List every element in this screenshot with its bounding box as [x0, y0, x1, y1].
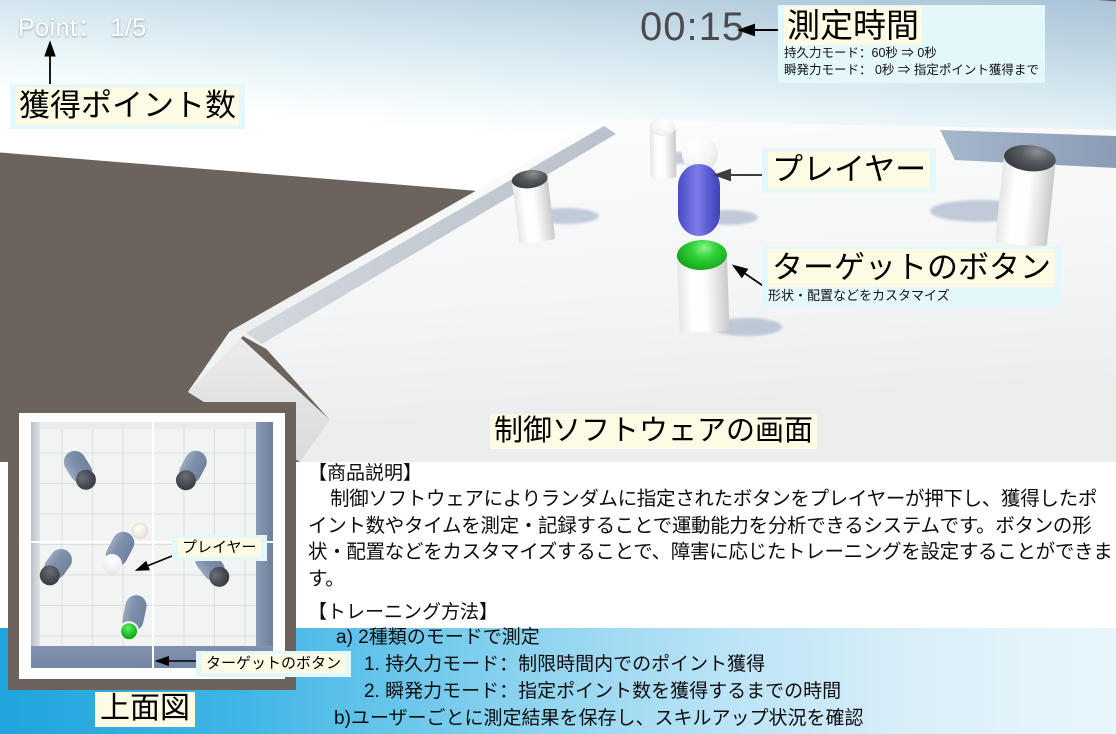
minimap-center-line-vertical — [152, 422, 154, 668]
training-item-a2: 2. 瞬発力モード：指定ポイント数を獲得するまでの時間 — [364, 679, 1116, 706]
callout-minimap-target: ターゲットのボタン — [196, 651, 351, 677]
callout-target-button-label: ターゲットのボタン — [768, 249, 1055, 287]
callout-measure-time-sub2: 瞬発力モード： 0秒 ⇒ 指定ポイント獲得まで — [784, 63, 1039, 79]
callout-measure-time: 測定時間 持久力モード：60秒 ⇒ 0秒 瞬発力モード： 0秒 ⇒ 指定ポイント… — [778, 5, 1045, 83]
button-cylinder-right[interactable] — [995, 143, 1057, 248]
callout-top-view: 上面図 — [95, 692, 195, 727]
callout-points: 獲得ポイント数 — [10, 84, 245, 129]
training-item-a: a) 2種類のモードで測定 — [336, 625, 1116, 652]
callout-software-screen-label: 制御ソフトウェアの画面 — [490, 414, 817, 449]
product-description-panel: 【商品説明】 制御ソフトウェアによりランダムに指定されたボタンをプレイヤーが押下… — [308, 464, 1116, 734]
callout-measure-time-sub1: 持久力モード：60秒 ⇒ 0秒 — [784, 46, 1039, 62]
minimap-player-marker — [132, 523, 148, 539]
hud-point-counter: Point： 1/5 — [18, 8, 147, 44]
training-item-b: b)ユーザーごとに測定結果を保存し、スキルアップ状況を確認 — [334, 706, 1116, 733]
player-body — [678, 164, 720, 236]
callout-points-label: 獲得ポイント数 — [16, 87, 239, 125]
callout-target-button: ターゲットのボタン 形状・配置などをカスタマイズ — [762, 246, 1061, 308]
callout-player: プレイヤー — [762, 148, 936, 193]
target-button-cylinder[interactable] — [676, 239, 729, 333]
hud-timer: 00:15 — [640, 5, 745, 50]
minimap-wall-left — [31, 422, 40, 668]
callout-target-button-sub: 形状・配置などをカスタマイズ — [768, 288, 1055, 304]
callout-minimap-player-label: プレイヤー — [178, 538, 261, 557]
section-body-product: 制御ソフトウェアによりランダムに指定されたボタンをプレイヤーが押下し、獲得したポ… — [308, 486, 1116, 593]
section-heading-training: 【トレーニング方法】 — [308, 597, 1116, 624]
callout-measure-time-label: 測定時間 — [784, 7, 922, 45]
callout-player-label: プレイヤー — [768, 151, 930, 189]
training-item-a1: 1. 持久力モード：制限時間内でのポイント獲得 — [364, 652, 1116, 679]
section-heading-product: 【商品説明】 — [308, 464, 1116, 483]
callout-software-screen: 制御ソフトウェアの画面 — [490, 414, 817, 449]
callout-top-view-label: 上面図 — [95, 692, 195, 727]
callout-minimap-target-label: ターゲットのボタン — [202, 654, 345, 673]
player-avatar — [668, 136, 734, 240]
callout-minimap-player: プレイヤー — [172, 535, 267, 561]
screenshot-root: Point： 1/5 00:15 — [0, 0, 1116, 734]
